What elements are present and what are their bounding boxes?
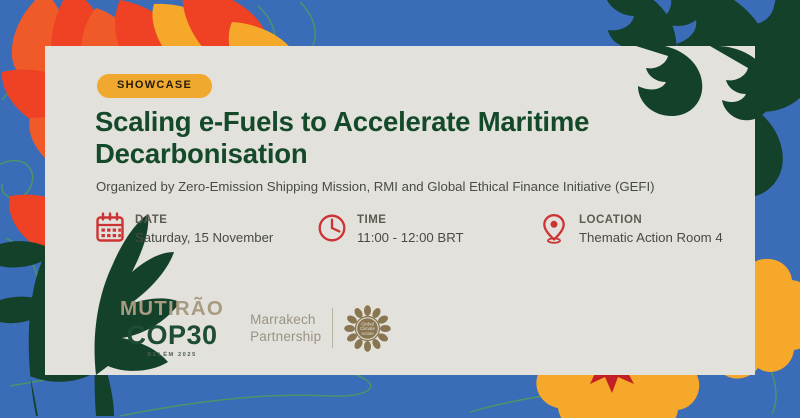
emblem-text-line-3: Action	[362, 331, 375, 336]
detail-label: DATE	[135, 213, 273, 227]
location-pin-icon	[539, 212, 569, 244]
detail-time: TIME 11:00 - 12:00 BRT	[317, 212, 539, 247]
detail-label: LOCATION	[579, 213, 723, 227]
card-content: SHOWCASE Scaling e-Fuels to Accelerate M…	[45, 46, 755, 375]
event-poster: SHOWCASE Scaling e-Fuels to Accelerate M…	[0, 0, 800, 418]
detail-date: DATE Saturday, 15 November	[95, 212, 317, 247]
cop30-logo: MUTIRÃO COP30 BELÉM 2025	[120, 299, 224, 358]
logo-row: MUTIRÃO COP30 BELÉM 2025 Marrakech Partn…	[120, 299, 391, 358]
logo-divider	[332, 308, 333, 348]
detail-location: LOCATION Thematic Action Room 4	[539, 212, 745, 247]
cop30-name-text: COP30	[120, 321, 224, 349]
page-title: Scaling e-Fuels to Accelerate Maritime D…	[95, 106, 735, 171]
partnership-line-1: Marrakech	[250, 311, 321, 328]
calendar-icon	[95, 212, 125, 244]
detail-value: 11:00 - 12:00 BRT	[357, 229, 464, 246]
detail-value: Thematic Action Room 4	[579, 229, 723, 246]
detail-value: Saturday, 15 November	[135, 229, 273, 246]
partnership-line-2: Partnership	[250, 328, 321, 345]
global-climate-action-emblem: Global Climate Action	[344, 305, 391, 352]
detail-label: TIME	[357, 213, 464, 227]
organizer-line: Organized by Zero-Emission Shipping Miss…	[96, 178, 756, 195]
event-details-row: DATE Saturday, 15 November TIME 11:00 - …	[95, 212, 745, 247]
clock-icon	[317, 212, 347, 244]
showcase-badge: SHOWCASE	[97, 74, 212, 98]
cop30-mutirao-text: MUTIRÃO	[120, 299, 224, 320]
cop30-location-text: BELÉM 2025	[120, 352, 224, 358]
marrakech-partnership-logo: Marrakech Partnership	[250, 305, 391, 352]
